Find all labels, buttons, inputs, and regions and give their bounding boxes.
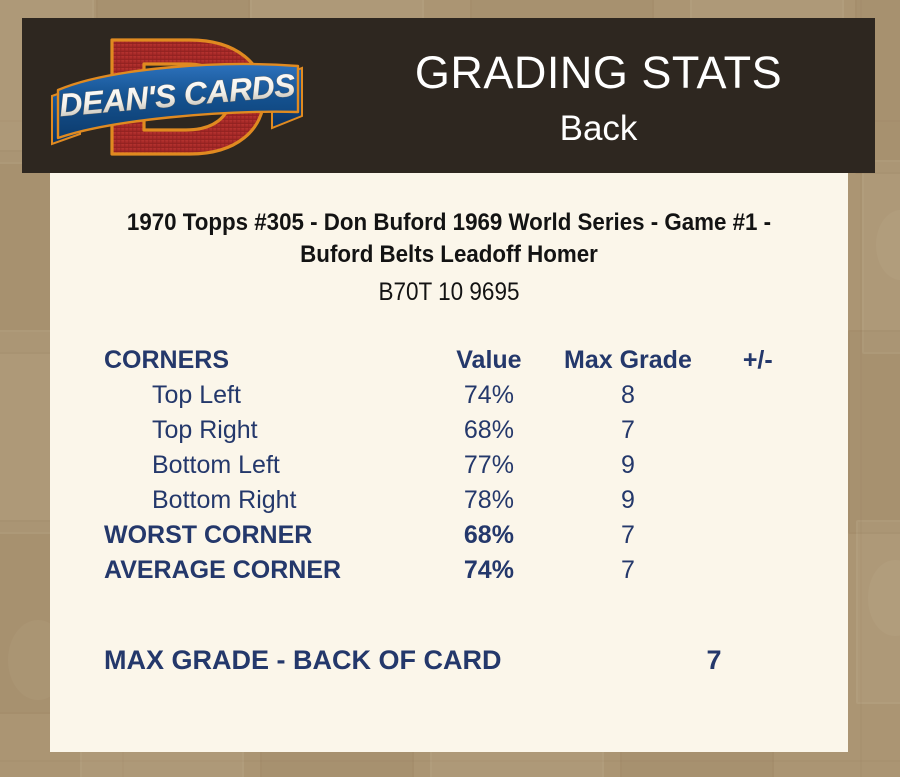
row-max-grade-worst-corner: 7 <box>544 518 711 553</box>
row-max-grade-average-corner: 7 <box>544 553 711 588</box>
grading-stats-page: DEAN'S CARDS DEAN'S CARDS GRADING STATS … <box>0 0 900 777</box>
row-plus-minus-average-corner <box>712 553 805 588</box>
row-value-worst-corner: 68% <box>434 518 545 553</box>
grading-stats-table: CORNERS Value Max Grade +/- Top Left 74%… <box>104 343 804 588</box>
grade-value: 7 <box>598 553 658 588</box>
row-plus-minus-top-left <box>712 378 805 413</box>
table-row-summary: AVERAGE CORNER 74% 7 <box>104 553 804 588</box>
card-description: 1970 Topps #305 - Don Buford 1969 World … <box>106 207 792 271</box>
table-row: Bottom Right 78% 9 <box>104 483 804 518</box>
row-label-bottom-right: Bottom Right <box>104 483 434 518</box>
row-plus-minus-top-right <box>712 413 805 448</box>
final-grade-label: MAX GRADE - BACK OF CARD <box>104 643 502 677</box>
grade-value: 9 <box>598 483 658 518</box>
column-header-plus-minus: +/- <box>712 343 805 378</box>
header-bar: DEAN'S CARDS DEAN'S CARDS GRADING STATS … <box>22 18 875 173</box>
table-row-summary: WORST CORNER 68% 7 <box>104 518 804 553</box>
row-value-bottom-left: 77% <box>434 448 545 483</box>
row-value-top-left: 74% <box>434 378 545 413</box>
row-value-average-corner: 74% <box>434 553 545 588</box>
row-max-grade-bottom-right: 9 <box>544 483 711 518</box>
row-value-bottom-right: 78% <box>434 483 545 518</box>
row-max-grade-bottom-left: 9 <box>544 448 711 483</box>
table-row: Top Left 74% 8 <box>104 378 804 413</box>
row-label-top-left: Top Left <box>104 378 434 413</box>
row-label-worst-corner: WORST CORNER <box>104 518 434 553</box>
final-grade-value: 7 <box>684 643 744 677</box>
row-plus-minus-bottom-left <box>712 448 805 483</box>
grade-value: 8 <box>598 378 658 413</box>
deans-cards-logo-icon: DEAN'S CARDS DEAN'S CARDS <box>40 24 320 169</box>
content-panel: 1970 Topps #305 - Don Buford 1969 World … <box>50 173 848 752</box>
row-value-top-right: 68% <box>434 413 545 448</box>
table-row: Top Right 68% 7 <box>104 413 804 448</box>
row-max-grade-top-left: 8 <box>544 378 711 413</box>
column-header-max-grade: Max Grade <box>544 343 711 378</box>
table-header-row: CORNERS Value Max Grade +/- <box>104 343 804 378</box>
grade-value: 9 <box>598 448 658 483</box>
row-label-bottom-left: Bottom Left <box>104 448 434 483</box>
table-row: Bottom Left 77% 9 <box>104 448 804 483</box>
grade-value: 7 <box>598 413 658 448</box>
page-subtitle: Back <box>322 108 875 150</box>
row-max-grade-top-right: 7 <box>544 413 711 448</box>
grade-value: 7 <box>598 518 658 553</box>
column-header-corners: CORNERS <box>104 343 434 378</box>
row-label-top-right: Top Right <box>104 413 434 448</box>
row-label-average-corner: AVERAGE CORNER <box>104 553 434 588</box>
card-sku: B70T 10 9695 <box>117 277 781 307</box>
row-plus-minus-bottom-right <box>712 483 805 518</box>
row-plus-minus-worst-corner <box>712 518 805 553</box>
page-title: GRADING STATS <box>322 46 875 100</box>
column-header-value: Value <box>434 343 545 378</box>
deans-cards-logo[interactable]: DEAN'S CARDS DEAN'S CARDS <box>40 24 320 169</box>
final-grade-row: MAX GRADE - BACK OF CARD 7 <box>104 643 804 677</box>
